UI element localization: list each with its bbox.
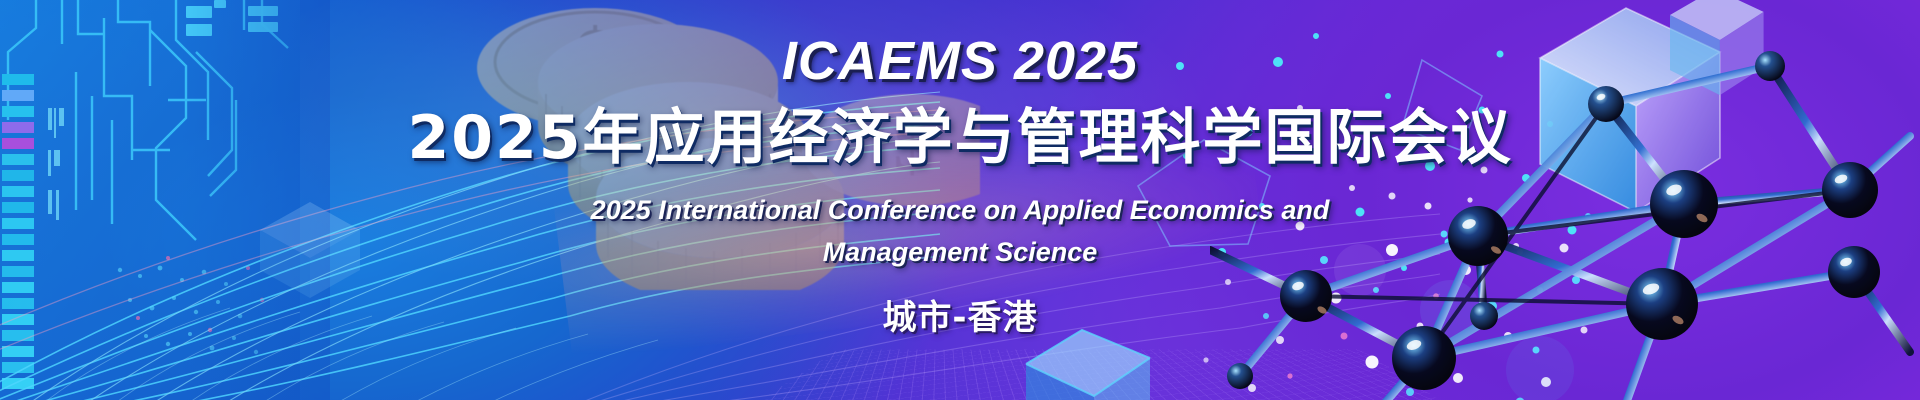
crystal-cube-small-left	[250, 190, 370, 310]
conference-title-english-line1: 2025 International Conference on Applied…	[591, 190, 1330, 232]
conference-title-english-line2: Management Science	[591, 232, 1330, 274]
conference-title-english: 2025 International Conference on Applied…	[591, 190, 1330, 274]
conference-banner: $	[0, 0, 1920, 400]
conference-acronym: ICAEMS 2025	[782, 34, 1138, 88]
conference-title-chinese: 2025年应用经济学与管理科学国际会议	[408, 108, 1513, 168]
conference-city-label: 城市-香港	[882, 290, 1037, 339]
crystal-cube-bottom-center	[1020, 320, 1170, 400]
